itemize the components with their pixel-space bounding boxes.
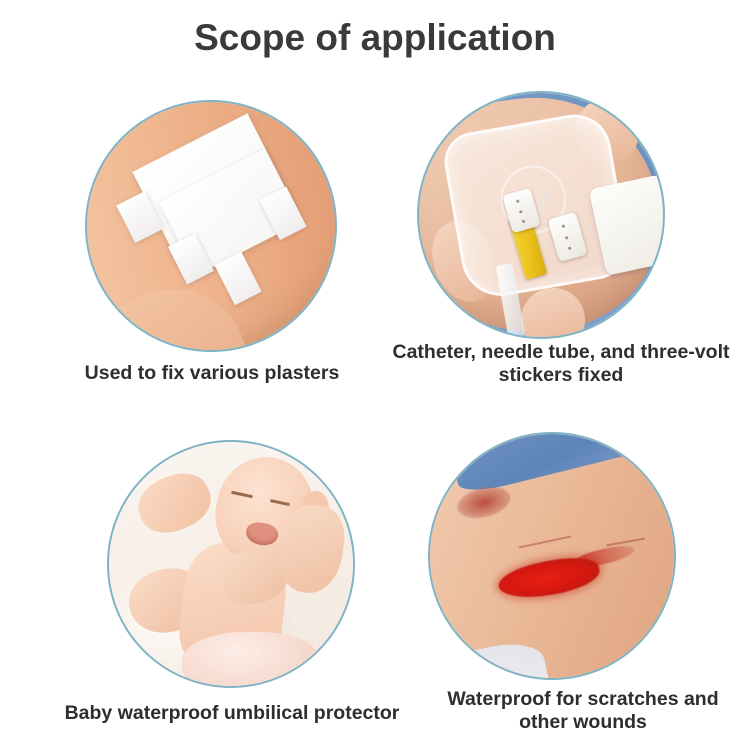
clip-dot: [515, 199, 519, 203]
photo-waterproof-for-scratches-and-other-wounds: [428, 432, 676, 680]
photo-baby-waterproof-umbilical-protector: [107, 440, 355, 688]
caption-plasters: Used to fix various plasters: [42, 362, 382, 385]
clip-dot: [568, 247, 572, 251]
clip-dot: [565, 236, 569, 240]
photo-2-inner: [419, 93, 663, 337]
page-title: Scope of application: [0, 16, 750, 60]
clip-dot: [518, 209, 522, 213]
clip-dot: [521, 219, 525, 223]
caption-wound-line-2: other wounds: [418, 711, 748, 734]
caption-catheter: Catheter, needle tube, and three-volt st…: [375, 341, 747, 387]
photo-4-inner: [430, 434, 674, 678]
infographic-page: Scope of application Used to fix various…: [0, 0, 750, 750]
photo-used-to-fix-various-plasters: [85, 100, 337, 352]
photo-1-inner: [87, 102, 335, 350]
caption-wound-line-1: Waterproof for scratches and: [418, 688, 748, 711]
caption-catheter-line-1: Catheter, needle tube, and three-volt: [375, 341, 747, 364]
caption-catheter-line-2: stickers fixed: [375, 364, 747, 387]
caption-wound: Waterproof for scratches and other wound…: [418, 688, 748, 734]
caption-baby: Baby waterproof umbilical protector: [60, 702, 404, 725]
photo-3-inner: [109, 442, 353, 686]
clip-dot: [561, 224, 565, 228]
photo-catheter-needle-tube-fixed: [417, 91, 665, 339]
bath-cloth: [182, 632, 319, 686]
